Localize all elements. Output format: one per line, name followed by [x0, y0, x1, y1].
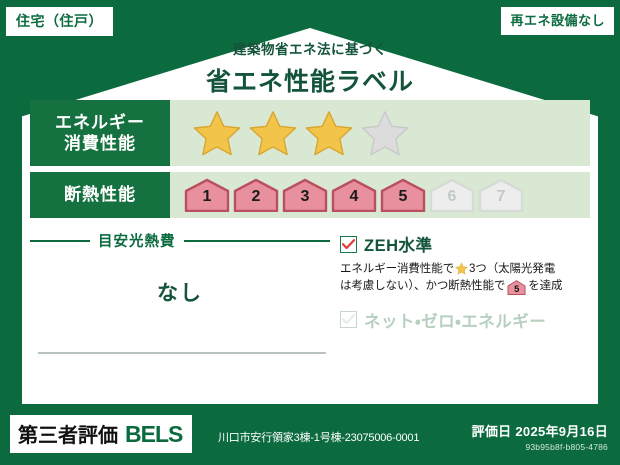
energy-cost-header: 目安光熱費	[30, 230, 330, 251]
zeh-block: ZEH水準 エネルギー消費性能で3つ（太陽光発電は考慮しない）、かつ断熱性能で5…	[330, 230, 590, 332]
insulation-level-7: 7	[478, 178, 524, 212]
insulation-level-value: 5	[399, 189, 408, 212]
insulation-label: 断熱性能	[30, 172, 170, 218]
badge-building-type: 住宅（住戸）	[6, 7, 113, 36]
insulation-level-value: 6	[448, 189, 457, 212]
label-heading: 建築物省エネ法に基づく 省エネ性能ラベル	[0, 38, 620, 98]
zeh-desc-part2: は考慮しない）、かつ断熱性能で	[340, 280, 505, 292]
star-icon-empty	[360, 109, 410, 157]
check-icon-muted	[342, 314, 355, 325]
insulation-badge-inline: 5	[507, 280, 526, 295]
page-title: 省エネ性能ラベル	[0, 62, 620, 98]
insulation-value: 1234567	[170, 172, 590, 218]
property-address: 川口市安行領家3棟-1号棟-23075006-0001	[218, 429, 419, 445]
energy-consumption-label-line1: エネルギー	[55, 112, 145, 133]
energy-performance-label: 住宅（住戸） 再エネ設備なし 建築物省エネ法に基づく 省エネ性能ラベル エネルギ…	[0, 0, 620, 465]
zeh-desc-stars: 3つ（太陽光発電	[469, 263, 555, 275]
cost-rule-left	[30, 240, 90, 242]
lower-section: 目安光熱費 なし ZEH水準 エネルギー消費性能で3つ（太陽光発電は考慮	[30, 230, 590, 332]
insulation-level-value: 2	[252, 189, 261, 212]
label-content: エネルギー 消費性能 断熱性能 1234567 目安光熱費	[30, 100, 590, 332]
badge-renewable-energy: 再エネ設備なし	[501, 7, 614, 35]
zeh-standard-line: ZEH水準	[340, 232, 590, 256]
evaluation-date: 評価日 2025年9月16日	[472, 421, 608, 440]
evaluation-id: 93b95b8f-b805-4786	[472, 442, 608, 452]
bels-en-text: BELS	[125, 421, 182, 448]
energy-cost-block: 目安光熱費 なし	[30, 230, 330, 332]
insulation-level-5: 5	[380, 178, 426, 212]
insulation-label-text: 断熱性能	[64, 184, 136, 205]
energy-consumption-label-line2: 消費性能	[64, 133, 136, 154]
insulation-scale: 1234567	[184, 178, 524, 212]
energy-consumption-row: エネルギー 消費性能	[30, 100, 590, 166]
insulation-badge-value: 5	[507, 280, 526, 300]
zeh-desc-part1: エネルギー消費性能で	[340, 263, 454, 275]
star-icon-inline	[455, 262, 468, 275]
insulation-row: 断熱性能 1234567	[30, 172, 590, 218]
insulation-level-2: 2	[233, 178, 279, 212]
energy-cost-value: なし	[30, 277, 330, 307]
insulation-level-value: 3	[301, 189, 310, 212]
zeh-checkbox-checked	[340, 236, 357, 253]
insulation-level-6: 6	[429, 178, 475, 212]
insulation-level-1: 1	[184, 178, 230, 212]
heading-subtitle: 建築物省エネ法に基づく	[0, 38, 620, 58]
net-zero-checkbox-unchecked	[340, 311, 357, 328]
footer-meta: 評価日 2025年9月16日 93b95b8f-b805-4786	[472, 421, 608, 452]
zeh-description: エネルギー消費性能で3つ（太陽光発電は考慮しない）、かつ断熱性能で5を達成	[340, 261, 590, 296]
star-icon-filled	[304, 109, 354, 157]
zeh-desc-part3: を達成	[528, 280, 562, 292]
net-zero-energy-line: ネット・ゼロ・エネルギー	[340, 308, 590, 332]
energy-consumption-value	[170, 100, 590, 166]
bels-badge: 第三者評価 BELS	[10, 415, 192, 453]
bels-jp-text: 第三者評価	[18, 419, 118, 448]
star-icon-filled	[248, 109, 298, 157]
insulation-level-value: 1	[203, 189, 212, 212]
star-rating	[192, 109, 410, 157]
cost-rule-right	[184, 240, 331, 242]
energy-consumption-label: エネルギー 消費性能	[30, 100, 170, 166]
cost-underline	[38, 352, 326, 354]
insulation-level-3: 3	[282, 178, 328, 212]
star-icon-filled	[192, 109, 242, 157]
zeh-standard-label: ZEH水準	[364, 232, 433, 256]
insulation-level-value: 7	[497, 189, 506, 212]
insulation-level-value: 4	[350, 189, 359, 212]
label-footer: 第三者評価 BELS 川口市安行領家3棟-1号棟-23075006-0001 評…	[0, 407, 620, 465]
energy-cost-title: 目安光熱費	[98, 230, 176, 251]
insulation-level-4: 4	[331, 178, 377, 212]
check-icon	[342, 239, 355, 250]
net-zero-energy-label: ネット・ゼロ・エネルギー	[364, 308, 546, 332]
